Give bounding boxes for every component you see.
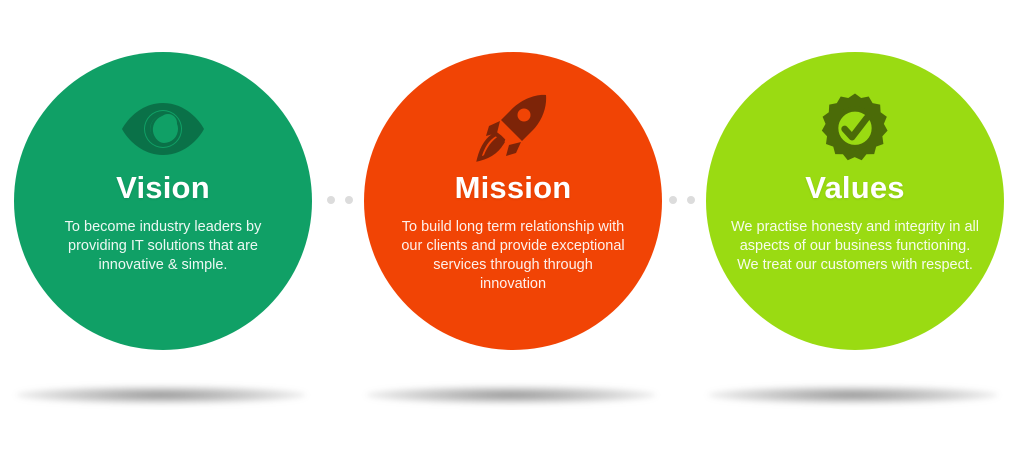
vision-ground-shadow xyxy=(16,386,306,404)
vision-body: To become industry leaders by providing … xyxy=(48,218,278,275)
mission-ground-shadow xyxy=(366,386,656,404)
vision-title: Vision xyxy=(116,172,210,203)
rocket-icon xyxy=(476,90,550,168)
vision-card[interactable]: Vision To become industry leaders by pro… xyxy=(14,52,312,350)
vision-mission-values-graphic: Vision To become industry leaders by pro… xyxy=(0,0,1017,458)
mission-body: To build long term relationship with our… xyxy=(399,218,627,294)
separator-dots-2 xyxy=(669,196,695,204)
check-badge-icon xyxy=(818,90,892,168)
separator-dot xyxy=(687,196,695,204)
values-body: We practise honesty and integrity in all… xyxy=(729,218,981,275)
separator-dot xyxy=(345,196,353,204)
mission-title: Mission xyxy=(455,172,572,203)
eye-icon xyxy=(121,90,205,168)
values-ground-shadow xyxy=(708,386,998,404)
separator-dot xyxy=(327,196,335,204)
values-card[interactable]: Values We practise honesty and integrity… xyxy=(706,52,1004,350)
values-title: Values xyxy=(805,172,904,203)
separator-dot xyxy=(669,196,677,204)
separator-dots-1 xyxy=(327,196,353,204)
mission-card[interactable]: Mission To build long term relationship … xyxy=(364,52,662,350)
